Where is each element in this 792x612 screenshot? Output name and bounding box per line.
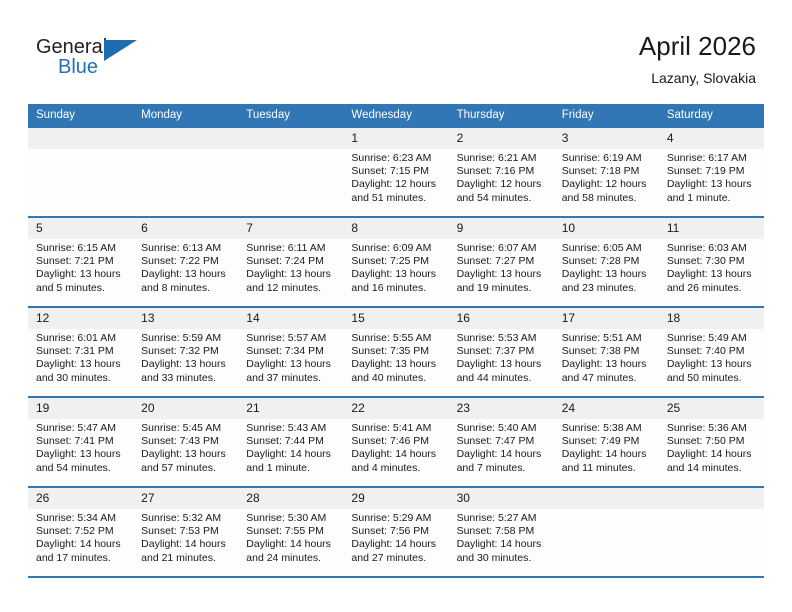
sunrise-text: Sunrise: 5:43 AM bbox=[246, 422, 337, 435]
calendar-day-cell[interactable]: 2Sunrise: 6:21 AMSunset: 7:16 PMDaylight… bbox=[449, 127, 554, 217]
sunrise-text: Sunrise: 5:55 AM bbox=[351, 332, 442, 345]
sunset-text: Sunset: 7:16 PM bbox=[457, 165, 548, 178]
calendar-day-cell[interactable]: 23Sunrise: 5:40 AMSunset: 7:47 PMDayligh… bbox=[449, 397, 554, 487]
sunset-text: Sunset: 7:31 PM bbox=[36, 345, 127, 358]
sunset-text: Sunset: 7:40 PM bbox=[667, 345, 758, 358]
calendar-day-cell[interactable]: 1Sunrise: 6:23 AMSunset: 7:15 PMDaylight… bbox=[343, 127, 448, 217]
day-number: 12 bbox=[28, 308, 133, 329]
sunset-text: Sunset: 7:37 PM bbox=[457, 345, 548, 358]
calendar-day-cell[interactable]: 27Sunrise: 5:32 AMSunset: 7:53 PMDayligh… bbox=[133, 487, 238, 577]
daylight-text: Daylight: 14 hours and 17 minutes. bbox=[36, 538, 127, 564]
daylight-text: Daylight: 13 hours and 47 minutes. bbox=[562, 358, 653, 384]
day-number: 22 bbox=[343, 398, 448, 419]
day-number bbox=[554, 488, 659, 509]
day-number: 19 bbox=[28, 398, 133, 419]
sunset-text: Sunset: 7:19 PM bbox=[667, 165, 758, 178]
day-info: Sunrise: 5:47 AMSunset: 7:41 PMDaylight:… bbox=[28, 419, 133, 475]
day-number bbox=[659, 488, 764, 509]
day-info: Sunrise: 5:55 AMSunset: 7:35 PMDaylight:… bbox=[343, 329, 448, 385]
calendar-day-cell[interactable]: 15Sunrise: 5:55 AMSunset: 7:35 PMDayligh… bbox=[343, 307, 448, 397]
day-number: 15 bbox=[343, 308, 448, 329]
calendar-day-cell[interactable]: 16Sunrise: 5:53 AMSunset: 7:37 PMDayligh… bbox=[449, 307, 554, 397]
daylight-text: Daylight: 14 hours and 1 minute. bbox=[246, 448, 337, 474]
daylight-text: Daylight: 13 hours and 37 minutes. bbox=[246, 358, 337, 384]
day-number: 26 bbox=[28, 488, 133, 509]
day-info: Sunrise: 5:30 AMSunset: 7:55 PMDaylight:… bbox=[238, 509, 343, 565]
day-number: 16 bbox=[449, 308, 554, 329]
sunset-text: Sunset: 7:53 PM bbox=[141, 525, 232, 538]
day-number: 23 bbox=[449, 398, 554, 419]
daylight-text: Daylight: 13 hours and 5 minutes. bbox=[36, 268, 127, 294]
sunrise-text: Sunrise: 5:38 AM bbox=[562, 422, 653, 435]
sunset-text: Sunset: 7:27 PM bbox=[457, 255, 548, 268]
daylight-text: Daylight: 14 hours and 14 minutes. bbox=[667, 448, 758, 474]
calendar-day-cell[interactable]: 17Sunrise: 5:51 AMSunset: 7:38 PMDayligh… bbox=[554, 307, 659, 397]
calendar-day-cell[interactable]: 13Sunrise: 5:59 AMSunset: 7:32 PMDayligh… bbox=[133, 307, 238, 397]
day-info: Sunrise: 6:01 AMSunset: 7:31 PMDaylight:… bbox=[28, 329, 133, 385]
sunrise-text: Sunrise: 5:34 AM bbox=[36, 512, 127, 525]
sunrise-text: Sunrise: 5:51 AM bbox=[562, 332, 653, 345]
weekday-header-monday: Monday bbox=[133, 104, 238, 127]
daylight-text: Daylight: 13 hours and 23 minutes. bbox=[562, 268, 653, 294]
day-number: 11 bbox=[659, 218, 764, 239]
calendar-table: SundayMondayTuesdayWednesdayThursdayFrid… bbox=[28, 104, 764, 578]
calendar-week-row: 1Sunrise: 6:23 AMSunset: 7:15 PMDaylight… bbox=[28, 127, 764, 217]
day-info: Sunrise: 5:53 AMSunset: 7:37 PMDaylight:… bbox=[449, 329, 554, 385]
daylight-text: Daylight: 14 hours and 21 minutes. bbox=[141, 538, 232, 564]
calendar-day-cell[interactable]: 4Sunrise: 6:17 AMSunset: 7:19 PMDaylight… bbox=[659, 127, 764, 217]
day-info: Sunrise: 6:21 AMSunset: 7:16 PMDaylight:… bbox=[449, 149, 554, 205]
day-info: Sunrise: 5:43 AMSunset: 7:44 PMDaylight:… bbox=[238, 419, 343, 475]
day-number: 13 bbox=[133, 308, 238, 329]
day-number: 21 bbox=[238, 398, 343, 419]
daylight-text: Daylight: 13 hours and 40 minutes. bbox=[351, 358, 442, 384]
sunrise-text: Sunrise: 5:57 AM bbox=[246, 332, 337, 345]
day-info: Sunrise: 5:36 AMSunset: 7:50 PMDaylight:… bbox=[659, 419, 764, 475]
calendar-day-cell[interactable]: 11Sunrise: 6:03 AMSunset: 7:30 PMDayligh… bbox=[659, 217, 764, 307]
day-number bbox=[238, 128, 343, 149]
calendar-day-cell[interactable]: 14Sunrise: 5:57 AMSunset: 7:34 PMDayligh… bbox=[238, 307, 343, 397]
brand-triangle-icon bbox=[104, 40, 137, 61]
calendar-cell-empty bbox=[554, 487, 659, 577]
day-number: 20 bbox=[133, 398, 238, 419]
day-info: Sunrise: 5:57 AMSunset: 7:34 PMDaylight:… bbox=[238, 329, 343, 385]
sunrise-text: Sunrise: 5:45 AM bbox=[141, 422, 232, 435]
day-info: Sunrise: 6:05 AMSunset: 7:28 PMDaylight:… bbox=[554, 239, 659, 295]
calendar-cell-empty bbox=[659, 487, 764, 577]
calendar-day-cell[interactable]: 25Sunrise: 5:36 AMSunset: 7:50 PMDayligh… bbox=[659, 397, 764, 487]
calendar-day-cell[interactable]: 12Sunrise: 6:01 AMSunset: 7:31 PMDayligh… bbox=[28, 307, 133, 397]
weekday-header-tuesday: Tuesday bbox=[238, 104, 343, 127]
sunrise-text: Sunrise: 5:41 AM bbox=[351, 422, 442, 435]
day-info: Sunrise: 5:49 AMSunset: 7:40 PMDaylight:… bbox=[659, 329, 764, 385]
calendar-day-cell[interactable]: 24Sunrise: 5:38 AMSunset: 7:49 PMDayligh… bbox=[554, 397, 659, 487]
weekday-header-sunday: Sunday bbox=[28, 104, 133, 127]
day-info: Sunrise: 5:41 AMSunset: 7:46 PMDaylight:… bbox=[343, 419, 448, 475]
day-info: Sunrise: 5:27 AMSunset: 7:58 PMDaylight:… bbox=[449, 509, 554, 565]
day-number bbox=[133, 128, 238, 149]
day-info: Sunrise: 5:34 AMSunset: 7:52 PMDaylight:… bbox=[28, 509, 133, 565]
day-number: 27 bbox=[133, 488, 238, 509]
daylight-text: Daylight: 13 hours and 50 minutes. bbox=[667, 358, 758, 384]
page-subtitle: Lazany, Slovakia bbox=[639, 68, 756, 88]
day-info: Sunrise: 6:17 AMSunset: 7:19 PMDaylight:… bbox=[659, 149, 764, 205]
sunset-text: Sunset: 7:15 PM bbox=[351, 165, 442, 178]
calendar-week-row: 12Sunrise: 6:01 AMSunset: 7:31 PMDayligh… bbox=[28, 307, 764, 397]
sunrise-text: Sunrise: 6:05 AM bbox=[562, 242, 653, 255]
day-number: 6 bbox=[133, 218, 238, 239]
calendar-day-cell[interactable]: 30Sunrise: 5:27 AMSunset: 7:58 PMDayligh… bbox=[449, 487, 554, 577]
calendar-day-cell[interactable]: 22Sunrise: 5:41 AMSunset: 7:46 PMDayligh… bbox=[343, 397, 448, 487]
day-number: 2 bbox=[449, 128, 554, 149]
sunset-text: Sunset: 7:30 PM bbox=[667, 255, 758, 268]
sunset-text: Sunset: 7:55 PM bbox=[246, 525, 337, 538]
sunset-text: Sunset: 7:43 PM bbox=[141, 435, 232, 448]
sunrise-text: Sunrise: 5:40 AM bbox=[457, 422, 548, 435]
daylight-text: Daylight: 13 hours and 8 minutes. bbox=[141, 268, 232, 294]
day-info: Sunrise: 6:09 AMSunset: 7:25 PMDaylight:… bbox=[343, 239, 448, 295]
sunrise-text: Sunrise: 5:30 AM bbox=[246, 512, 337, 525]
sunrise-text: Sunrise: 5:53 AM bbox=[457, 332, 548, 345]
sunrise-text: Sunrise: 6:09 AM bbox=[351, 242, 442, 255]
calendar-day-cell[interactable]: 18Sunrise: 5:49 AMSunset: 7:40 PMDayligh… bbox=[659, 307, 764, 397]
calendar-day-cell[interactable]: 21Sunrise: 5:43 AMSunset: 7:44 PMDayligh… bbox=[238, 397, 343, 487]
day-number: 9 bbox=[449, 218, 554, 239]
day-number: 3 bbox=[554, 128, 659, 149]
sunrise-text: Sunrise: 5:32 AM bbox=[141, 512, 232, 525]
sunrise-text: Sunrise: 5:29 AM bbox=[351, 512, 442, 525]
sunset-text: Sunset: 7:24 PM bbox=[246, 255, 337, 268]
sunset-text: Sunset: 7:47 PM bbox=[457, 435, 548, 448]
sunrise-text: Sunrise: 6:19 AM bbox=[562, 152, 653, 165]
sunrise-text: Sunrise: 5:47 AM bbox=[36, 422, 127, 435]
day-number: 30 bbox=[449, 488, 554, 509]
day-info: Sunrise: 5:45 AMSunset: 7:43 PMDaylight:… bbox=[133, 419, 238, 475]
sunset-text: Sunset: 7:18 PM bbox=[562, 165, 653, 178]
sunset-text: Sunset: 7:56 PM bbox=[351, 525, 442, 538]
daylight-text: Daylight: 13 hours and 54 minutes. bbox=[36, 448, 127, 474]
day-number bbox=[28, 128, 133, 149]
day-info: Sunrise: 6:13 AMSunset: 7:22 PMDaylight:… bbox=[133, 239, 238, 295]
day-info: Sunrise: 6:23 AMSunset: 7:15 PMDaylight:… bbox=[343, 149, 448, 205]
calendar-day-cell[interactable]: 29Sunrise: 5:29 AMSunset: 7:56 PMDayligh… bbox=[343, 487, 448, 577]
day-info: Sunrise: 6:07 AMSunset: 7:27 PMDaylight:… bbox=[449, 239, 554, 295]
calendar-day-cell[interactable]: 5Sunrise: 6:15 AMSunset: 7:21 PMDaylight… bbox=[28, 217, 133, 307]
sunrise-text: Sunrise: 6:13 AM bbox=[141, 242, 232, 255]
day-number: 7 bbox=[238, 218, 343, 239]
day-info: Sunrise: 5:59 AMSunset: 7:32 PMDaylight:… bbox=[133, 329, 238, 385]
sunrise-text: Sunrise: 5:59 AM bbox=[141, 332, 232, 345]
calendar-header-row: SundayMondayTuesdayWednesdayThursdayFrid… bbox=[28, 104, 764, 127]
day-number: 1 bbox=[343, 128, 448, 149]
day-number: 25 bbox=[659, 398, 764, 419]
brand-name-top: General bbox=[36, 36, 107, 58]
day-info: Sunrise: 6:11 AMSunset: 7:24 PMDaylight:… bbox=[238, 239, 343, 295]
sunset-text: Sunset: 7:49 PM bbox=[562, 435, 653, 448]
calendar-day-cell[interactable]: 8Sunrise: 6:09 AMSunset: 7:25 PMDaylight… bbox=[343, 217, 448, 307]
day-info: Sunrise: 5:38 AMSunset: 7:49 PMDaylight:… bbox=[554, 419, 659, 475]
sunrise-text: Sunrise: 6:15 AM bbox=[36, 242, 127, 255]
weekday-header-friday: Friday bbox=[554, 104, 659, 127]
calendar-day-cell[interactable]: 7Sunrise: 6:11 AMSunset: 7:24 PMDaylight… bbox=[238, 217, 343, 307]
weekday-header-saturday: Saturday bbox=[659, 104, 764, 127]
sunset-text: Sunset: 7:34 PM bbox=[246, 345, 337, 358]
sunset-text: Sunset: 7:44 PM bbox=[246, 435, 337, 448]
sunset-text: Sunset: 7:25 PM bbox=[351, 255, 442, 268]
daylight-text: Daylight: 12 hours and 54 minutes. bbox=[457, 178, 548, 204]
daylight-text: Daylight: 14 hours and 4 minutes. bbox=[351, 448, 442, 474]
sunrise-text: Sunrise: 6:23 AM bbox=[351, 152, 442, 165]
day-number: 29 bbox=[343, 488, 448, 509]
sunset-text: Sunset: 7:21 PM bbox=[36, 255, 127, 268]
sunset-text: Sunset: 7:46 PM bbox=[351, 435, 442, 448]
calendar-week-row: 5Sunrise: 6:15 AMSunset: 7:21 PMDaylight… bbox=[28, 217, 764, 307]
sunset-text: Sunset: 7:41 PM bbox=[36, 435, 127, 448]
day-number: 5 bbox=[28, 218, 133, 239]
calendar-day-cell[interactable]: 3Sunrise: 6:19 AMSunset: 7:18 PMDaylight… bbox=[554, 127, 659, 217]
sunset-text: Sunset: 7:32 PM bbox=[141, 345, 232, 358]
weekday-header-thursday: Thursday bbox=[449, 104, 554, 127]
day-number: 18 bbox=[659, 308, 764, 329]
daylight-text: Daylight: 14 hours and 27 minutes. bbox=[351, 538, 442, 564]
sunset-text: Sunset: 7:50 PM bbox=[667, 435, 758, 448]
day-info: Sunrise: 5:51 AMSunset: 7:38 PMDaylight:… bbox=[554, 329, 659, 385]
calendar-week-row: 19Sunrise: 5:47 AMSunset: 7:41 PMDayligh… bbox=[28, 397, 764, 487]
sunrise-text: Sunrise: 5:27 AM bbox=[457, 512, 548, 525]
page-title: April 2026 bbox=[639, 30, 756, 62]
sunrise-text: Sunrise: 5:49 AM bbox=[667, 332, 758, 345]
sunrise-text: Sunrise: 6:17 AM bbox=[667, 152, 758, 165]
day-number: 10 bbox=[554, 218, 659, 239]
day-info: Sunrise: 6:15 AMSunset: 7:21 PMDaylight:… bbox=[28, 239, 133, 295]
calendar-cell-empty bbox=[133, 127, 238, 217]
calendar-cell-empty bbox=[238, 127, 343, 217]
brand-logo[interactable]: General Blue bbox=[36, 36, 156, 84]
daylight-text: Daylight: 13 hours and 33 minutes. bbox=[141, 358, 232, 384]
sunrise-text: Sunrise: 6:21 AM bbox=[457, 152, 548, 165]
day-info: Sunrise: 6:19 AMSunset: 7:18 PMDaylight:… bbox=[554, 149, 659, 205]
calendar-day-cell[interactable]: 10Sunrise: 6:05 AMSunset: 7:28 PMDayligh… bbox=[554, 217, 659, 307]
day-number: 24 bbox=[554, 398, 659, 419]
daylight-text: Daylight: 13 hours and 19 minutes. bbox=[457, 268, 548, 294]
daylight-text: Daylight: 13 hours and 30 minutes. bbox=[36, 358, 127, 384]
daylight-text: Daylight: 14 hours and 30 minutes. bbox=[457, 538, 548, 564]
brand-name-bottom: Blue bbox=[58, 56, 98, 78]
day-number: 8 bbox=[343, 218, 448, 239]
calendar-day-cell[interactable]: 6Sunrise: 6:13 AMSunset: 7:22 PMDaylight… bbox=[133, 217, 238, 307]
calendar-day-cell[interactable]: 19Sunrise: 5:47 AMSunset: 7:41 PMDayligh… bbox=[28, 397, 133, 487]
page-header: General Blue April 2026 Lazany, Slovakia bbox=[0, 0, 792, 98]
day-number: 14 bbox=[238, 308, 343, 329]
calendar-cell-empty bbox=[28, 127, 133, 217]
day-info: Sunrise: 5:29 AMSunset: 7:56 PMDaylight:… bbox=[343, 509, 448, 565]
sunrise-text: Sunrise: 6:01 AM bbox=[36, 332, 127, 345]
sunset-text: Sunset: 7:28 PM bbox=[562, 255, 653, 268]
day-number: 4 bbox=[659, 128, 764, 149]
day-info: Sunrise: 5:32 AMSunset: 7:53 PMDaylight:… bbox=[133, 509, 238, 565]
sunrise-text: Sunrise: 6:07 AM bbox=[457, 242, 548, 255]
sunrise-text: Sunrise: 6:11 AM bbox=[246, 242, 337, 255]
daylight-text: Daylight: 14 hours and 7 minutes. bbox=[457, 448, 548, 474]
daylight-text: Daylight: 13 hours and 1 minute. bbox=[667, 178, 758, 204]
calendar-day-cell[interactable]: 9Sunrise: 6:07 AMSunset: 7:27 PMDaylight… bbox=[449, 217, 554, 307]
sunset-text: Sunset: 7:35 PM bbox=[351, 345, 442, 358]
day-info: Sunrise: 5:40 AMSunset: 7:47 PMDaylight:… bbox=[449, 419, 554, 475]
sunset-text: Sunset: 7:52 PM bbox=[36, 525, 127, 538]
calendar-day-cell[interactable]: 20Sunrise: 5:45 AMSunset: 7:43 PMDayligh… bbox=[133, 397, 238, 487]
title-block: April 2026 Lazany, Slovakia bbox=[639, 30, 756, 88]
daylight-text: Daylight: 13 hours and 57 minutes. bbox=[141, 448, 232, 474]
daylight-text: Daylight: 12 hours and 51 minutes. bbox=[351, 178, 442, 204]
sunrise-text: Sunrise: 6:03 AM bbox=[667, 242, 758, 255]
sunset-text: Sunset: 7:22 PM bbox=[141, 255, 232, 268]
day-number: 28 bbox=[238, 488, 343, 509]
calendar-day-cell[interactable]: 26Sunrise: 5:34 AMSunset: 7:52 PMDayligh… bbox=[28, 487, 133, 577]
sunset-text: Sunset: 7:58 PM bbox=[457, 525, 548, 538]
day-info: Sunrise: 6:03 AMSunset: 7:30 PMDaylight:… bbox=[659, 239, 764, 295]
daylight-text: Daylight: 13 hours and 16 minutes. bbox=[351, 268, 442, 294]
daylight-text: Daylight: 14 hours and 24 minutes. bbox=[246, 538, 337, 564]
daylight-text: Daylight: 12 hours and 58 minutes. bbox=[562, 178, 653, 204]
daylight-text: Daylight: 13 hours and 26 minutes. bbox=[667, 268, 758, 294]
daylight-text: Daylight: 14 hours and 11 minutes. bbox=[562, 448, 653, 474]
calendar-page: General Blue April 2026 Lazany, Slovakia… bbox=[0, 0, 792, 612]
calendar-body: 1Sunrise: 6:23 AMSunset: 7:15 PMDaylight… bbox=[28, 127, 764, 577]
calendar-week-row: 26Sunrise: 5:34 AMSunset: 7:52 PMDayligh… bbox=[28, 487, 764, 577]
sunrise-text: Sunrise: 5:36 AM bbox=[667, 422, 758, 435]
sunset-text: Sunset: 7:38 PM bbox=[562, 345, 653, 358]
calendar-day-cell[interactable]: 28Sunrise: 5:30 AMSunset: 7:55 PMDayligh… bbox=[238, 487, 343, 577]
daylight-text: Daylight: 13 hours and 12 minutes. bbox=[246, 268, 337, 294]
weekday-header-wednesday: Wednesday bbox=[343, 104, 448, 127]
day-number: 17 bbox=[554, 308, 659, 329]
daylight-text: Daylight: 13 hours and 44 minutes. bbox=[457, 358, 548, 384]
